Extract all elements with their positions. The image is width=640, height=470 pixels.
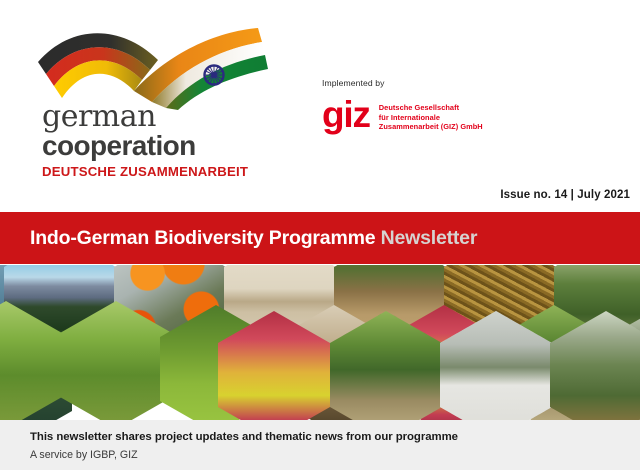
- giz-claim-text: Deutsche Gesellschaft für Internationale…: [379, 103, 483, 132]
- giz-logo-block: Implemented by giz Deutsche Gesellschaft…: [322, 78, 572, 133]
- logo-line-german: german: [42, 102, 272, 132]
- footer-headline: This newsletter shares project updates a…: [30, 431, 458, 443]
- giz-logo-row: giz Deutsche Gesellschaft für Internatio…: [322, 100, 572, 133]
- logo-line-deutsche-zusammenarbeit: DEUTSCHE ZUSAMMENARBEIT: [42, 163, 272, 180]
- issue-number-line: Issue no. 14 | July 2021: [500, 189, 630, 201]
- newsletter-title-main: Indo-German Biodiversity Programme: [30, 227, 375, 249]
- giz-claim-line-1: Deutsche Gesellschaft: [379, 103, 483, 113]
- newsletter-title-bar: Indo-German Biodiversity Programme Newsl…: [0, 212, 640, 264]
- giz-claim-line-2: für Internationale: [379, 113, 483, 123]
- flag-ribbon-graphic: [26, 18, 276, 110]
- footer-subline: A service by IGBP, GIZ: [30, 449, 138, 461]
- giz-wordmark: giz: [322, 98, 370, 131]
- newsletter-title-sub: Newsletter: [381, 227, 478, 249]
- header-logo-zone: german cooperation DEUTSCHE ZUSAMMENARBE…: [0, 0, 640, 212]
- newsletter-title: Indo-German Biodiversity Programme Newsl…: [30, 227, 477, 250]
- logo-line-cooperation: cooperation: [42, 130, 272, 161]
- ashoka-chakra-icon: [205, 66, 224, 85]
- german-cooperation-wordmark: german cooperation DEUTSCHE ZUSAMMENARBE…: [42, 102, 272, 180]
- giz-claim-line-3: Zusammenarbeit (GIZ) GmbH: [379, 122, 483, 132]
- photo-collage-banner: [0, 265, 640, 420]
- german-cooperation-logo: german cooperation DEUTSCHE ZUSAMMENARBE…: [26, 18, 276, 168]
- footer-strip: This newsletter shares project updates a…: [0, 420, 640, 470]
- implemented-by-label: Implemented by: [322, 78, 572, 88]
